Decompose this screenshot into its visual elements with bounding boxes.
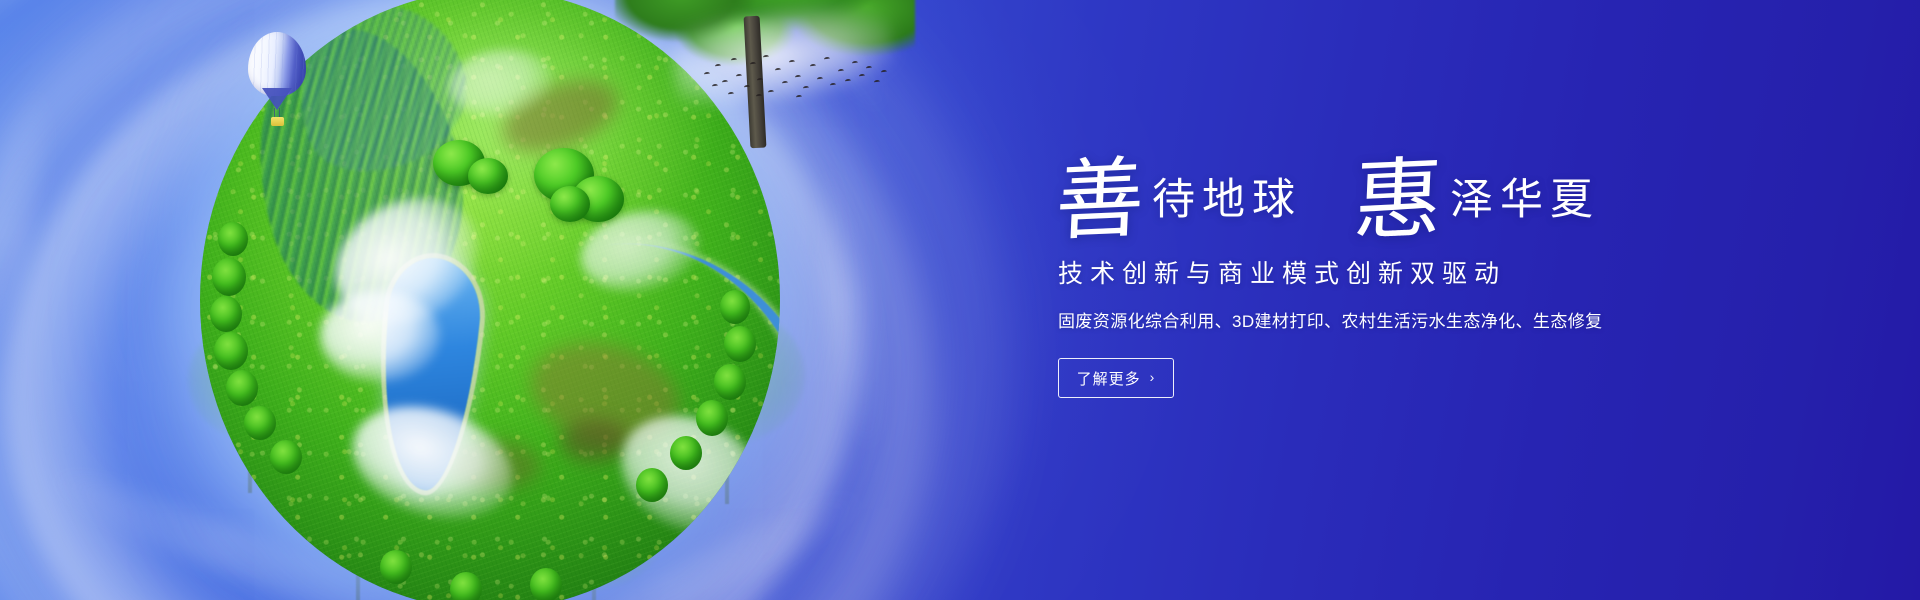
rim-tree [696, 400, 728, 436]
rim-tree [636, 468, 668, 502]
rim-tree [244, 406, 276, 440]
balloon-basket [271, 117, 284, 126]
rim-tree [670, 436, 702, 470]
rim-tree [210, 296, 242, 332]
title-char-hui: 惠 [1352, 159, 1444, 240]
rim-tree [450, 572, 482, 600]
rim-tree [218, 222, 248, 256]
rim-tree [380, 550, 412, 584]
tree-bush [468, 158, 508, 194]
rim-tree [212, 258, 246, 296]
rim-tree [714, 364, 746, 400]
rim-tree [270, 440, 302, 474]
surface-cloud [320, 290, 440, 382]
rim-tree [720, 290, 750, 324]
rim-tree [226, 370, 258, 406]
tree-bush [550, 186, 590, 222]
chevron-right-icon: › [1150, 370, 1156, 384]
title-text-daidiqiu: 待地球 [1152, 179, 1302, 222]
learn-more-button[interactable]: 了解更多 › [1058, 358, 1174, 398]
hero-subtitle: 技术创新与商业模式创新双驱动 [1058, 254, 1698, 290]
hero-banner: 善 待地球 惠 泽华夏 技术创新与商业模式创新双驱动 固废资源化综合利用、3D建… [0, 0, 1920, 600]
balloon-envelope [248, 32, 306, 96]
balloon-skirt [262, 88, 292, 110]
page-title: 善 待地球 惠 泽华夏 [1056, 136, 1698, 232]
title-char-shan: 善 [1054, 159, 1146, 240]
hero-description: 固废资源化综合利用、3D建材打印、农村生活污水生态净化、生态修复 [1058, 307, 1698, 332]
rim-tree [724, 326, 756, 362]
hot-air-balloon-icon [248, 32, 314, 124]
rim-tree [214, 332, 248, 370]
bird-flock-icon [700, 50, 890, 105]
title-text-zehuaxia: 泽华夏 [1450, 179, 1600, 222]
rim-tree [530, 568, 562, 600]
learn-more-label: 了解更多 [1077, 368, 1141, 389]
hero-content: 善 待地球 惠 泽华夏 技术创新与商业模式创新双驱动 固废资源化综合利用、3D建… [1058, 136, 1698, 398]
